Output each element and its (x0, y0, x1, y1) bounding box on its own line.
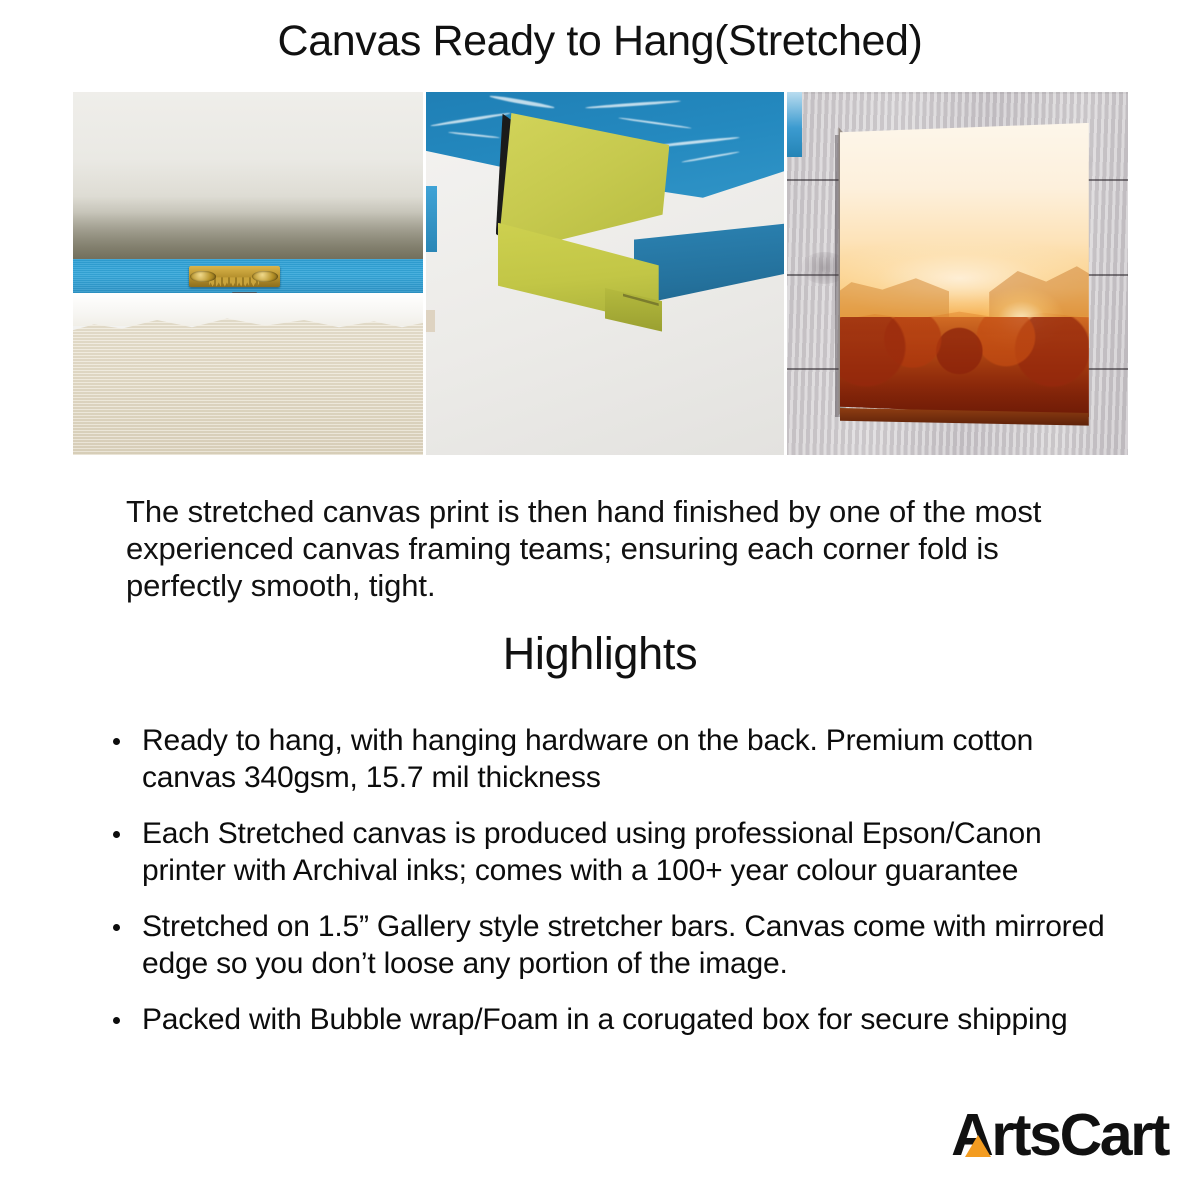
product-description: The stretched canvas print is then hand … (126, 493, 1076, 604)
wall-background (73, 92, 423, 259)
cloud-streak (448, 131, 500, 138)
list-item: Packed with Bubble wrap/Foam in a coruga… (106, 1001, 1116, 1038)
photo-canvas-corner-fold (426, 92, 784, 455)
sawtooth-hanger-icon (189, 266, 280, 286)
wall-lower-band (73, 293, 423, 326)
list-item: Ready to hang, with hanging hardware on … (106, 722, 1116, 796)
cloud-streak (489, 94, 555, 109)
bullet-dot-icon (113, 924, 120, 931)
list-item-label: Each Stretched canvas is produced using … (142, 817, 1041, 887)
cloud-streak (430, 112, 511, 128)
list-item-label: Packed with Bubble wrap/Foam in a coruga… (142, 1003, 1067, 1036)
cloud-streak (585, 100, 681, 110)
hung-canvas (840, 123, 1089, 417)
list-item: Stretched on 1.5” Gallery style stretche… (106, 908, 1116, 982)
highlights-heading: Highlights (0, 627, 1200, 681)
adjacent-photo-sliver (787, 92, 802, 157)
product-image-strip (73, 92, 1128, 455)
page-title: Canvas Ready to Hang(Stretched) (0, 16, 1200, 66)
list-item-label: Stretched on 1.5” Gallery style stretche… (142, 910, 1104, 980)
canvas-printed-face (840, 123, 1089, 417)
bullet-dot-icon (113, 738, 120, 745)
highlights-list: Ready to hang, with hanging hardware on … (106, 722, 1116, 1038)
raw-canvas-roll (73, 310, 423, 455)
hanger-screw-left (190, 271, 215, 282)
background-edge-strip (426, 310, 435, 332)
brand-logo: ArtsCart (951, 1104, 1168, 1166)
cloud-streak (618, 117, 691, 129)
bullet-dot-icon (113, 1017, 120, 1024)
foreground-foliage (840, 317, 1089, 417)
background-blue-strip (426, 186, 437, 251)
hanger-teeth (209, 277, 260, 286)
photo-canvas-back-hanging-hardware (73, 92, 423, 455)
list-item: Each Stretched canvas is produced using … (106, 815, 1116, 889)
triangle-accent-icon (965, 1135, 991, 1157)
hanger-screw-right (252, 271, 277, 282)
photo-canvas-hung-on-wall (787, 92, 1128, 455)
list-item-label: Ready to hang, with hanging hardware on … (142, 724, 1033, 794)
cloud-streak (681, 151, 739, 163)
bullet-dot-icon (113, 831, 120, 838)
